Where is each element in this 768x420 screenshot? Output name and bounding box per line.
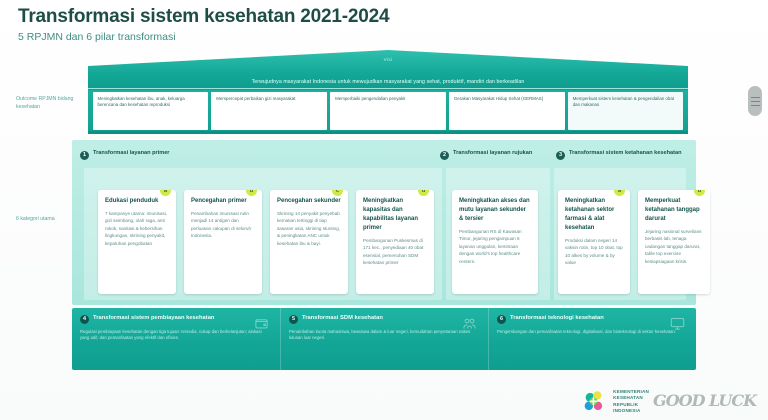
header: Transformasi sistem kesehatan 2021-2024 … (18, 6, 389, 43)
card-badge: a (160, 190, 171, 196)
card-3a[interactable]: a Meningkatkan ketahanan sektor farmasi … (558, 190, 630, 294)
card-title: Meningkatkan ketahanan sektor farmasi & … (565, 197, 624, 233)
foundation-body: Pengembangan dan pemanfaatan teknologi, … (497, 329, 688, 336)
card-title: Pencegahan primer (191, 197, 256, 206)
card-body: Pembangunan Puskesmas di 171 kec., penye… (363, 237, 428, 267)
section-header-2[interactable]: 2 Transformasi layanan rujukan (440, 150, 536, 160)
foundation-label: Transformasi sistem pembiayaan kesehatan (93, 314, 214, 322)
card-body: Jejaring nasional surveilans berbasis la… (645, 228, 704, 265)
rail-label-outcome: Outcome RPJMN bidang kesehatan (16, 96, 82, 112)
grip-line (751, 105, 760, 106)
outcome-text: Meningkatkan kesehatan ibu, anak, keluar… (98, 96, 204, 109)
ministry-line-4: INDONESIA (613, 408, 649, 414)
foundation-item-6[interactable]: 6 Transformasi teknologi kesehatan Penge… (488, 308, 696, 370)
kemenkes-logo-icon (583, 390, 609, 414)
section-header-3[interactable]: 3 Transformasi sistem ketahanan kesehata… (556, 150, 686, 160)
foundation-label: Transformasi teknologi kesehatan (510, 314, 604, 322)
card-title: Meningkatkan akses dan mutu layanan seku… (459, 197, 532, 224)
grip-line (751, 101, 760, 102)
foundation-label: Transformasi SDM kesehatan (302, 314, 383, 322)
vision-statement: Terwujudnya masyarakat Indonesia untuk m… (98, 79, 678, 85)
card-body: Penambahan imunisasi rutin menjadi 14 an… (191, 210, 256, 240)
section-header-1[interactable]: 1 Transformasi layanan primer (80, 150, 280, 160)
card-title: Memperkuat ketahanan tanggap darurat (645, 197, 704, 224)
foundation-header: 5 Transformasi SDM kesehatan (289, 314, 480, 324)
card-title: Edukasi penduduk (105, 197, 170, 206)
foundation-header: 4 Transformasi sistem pembiayaan kesehat… (80, 314, 272, 324)
grip-line (751, 97, 760, 98)
card-badge: b (246, 190, 257, 196)
ministry-name: KEMENTERIAN KESEHATAN REPUBLIK INDONESIA (613, 389, 649, 414)
monitor-icon (669, 316, 686, 331)
page-subtitle: 5 RPJMN dan 6 pilar transformasi (18, 31, 389, 43)
foundation-number: 4 (80, 315, 89, 324)
section-label: Transformasi layanan primer (93, 150, 169, 158)
foundation-band: 4 Transformasi sistem pembiayaan kesehat… (72, 308, 696, 370)
outcome-box-1[interactable]: Meningkatkan kesehatan ibu, anak, keluar… (93, 92, 209, 130)
section-label: Transformasi sistem ketahanan kesehatan (569, 150, 682, 158)
card-body: Skrining 14 penyakit penyebab kematian t… (277, 210, 342, 247)
section-number: 2 (440, 151, 449, 160)
card-body: Pembangunan RS di Kawasan Timur, jejarin… (459, 228, 532, 265)
card-1b[interactable]: b Pencegahan primer Penambahan imunisasi… (184, 190, 262, 294)
outcome-text: Mempercepat perbaikan gizi masyarakat (216, 96, 322, 102)
wallet-icon (253, 316, 270, 331)
section-label: Transformasi layanan rujukan (453, 150, 532, 158)
footer-logo: KEMENTERIAN KESEHATAN REPUBLIK INDONESIA… (583, 389, 756, 414)
people-icon (461, 316, 478, 331)
outcome-box-4[interactable]: Gerakan Masyarakat Hidup Sehat (GERMAS) (449, 92, 565, 130)
foundation-body: Regulasi pembiayaan kesehatan dengan tig… (80, 329, 272, 343)
foundation-number: 5 (289, 315, 298, 324)
section-number: 3 (556, 151, 565, 160)
foundation-header: 6 Transformasi teknologi kesehatan (497, 314, 688, 324)
outcome-band: Meningkatkan kesehatan ibu, anak, keluar… (88, 90, 688, 134)
foundation-item-4[interactable]: 4 Transformasi sistem pembiayaan kesehat… (72, 308, 280, 370)
card-1d[interactable]: d Meningkatkan kapasitas dan kapabilitas… (356, 190, 434, 294)
foundation-body: Penambahan kuota mahasiswa, beasiswa dal… (289, 329, 480, 343)
card-1c[interactable]: c Pencegahan sekunder Skrining 14 penyak… (270, 190, 348, 294)
outcome-box-3[interactable]: Memperbaiki pengendalian penyakit (330, 92, 446, 130)
slide-canvas: Transformasi sistem kesehatan 2021-2024 … (0, 0, 768, 420)
card-1a[interactable]: a Edukasi penduduk 7 kampanye utama: imu… (98, 190, 176, 294)
card-2a[interactable]: Meningkatkan akses dan mutu layanan seku… (452, 190, 538, 294)
card-body: Produksi dalam negeri 14 vaksin rutin, t… (565, 237, 624, 267)
card-badge: c (332, 190, 343, 196)
goodluck-watermark: GOOD LUCK (653, 395, 756, 408)
page-title: Transformasi sistem kesehatan 2021-2024 (18, 6, 389, 28)
outcome-text: Memperbaiki pengendalian penyakit (335, 96, 441, 102)
roof-divider (88, 88, 688, 90)
outcome-text: Memperkuat sistem kesehatan & pengendali… (573, 96, 679, 109)
outcome-box-5[interactable]: Memperkuat sistem kesehatan & pengendali… (568, 92, 684, 130)
card-badge: d (418, 190, 429, 196)
drag-handle[interactable] (748, 86, 762, 116)
vision-label: Visi (88, 57, 688, 62)
card-badge: b (694, 190, 705, 196)
section-number: 1 (80, 151, 89, 160)
card-title: Pencegahan sekunder (277, 197, 342, 206)
vision-banner: Visi Terwujudnya masyarakat Indonesia un… (88, 50, 688, 92)
foundation-item-5[interactable]: 5 Transformasi SDM kesehatan Penambahan … (280, 308, 488, 370)
card-3b[interactable]: b Memperkuat ketahanan tanggap darurat J… (638, 190, 710, 294)
foundation-number: 6 (497, 315, 506, 324)
card-badge: a (614, 190, 625, 196)
outcome-text: Gerakan Masyarakat Hidup Sehat (GERMAS) (454, 96, 560, 102)
outcome-box-2[interactable]: Mempercepat perbaikan gizi masyarakat (211, 92, 327, 130)
card-body: 7 kampanye utama: imunisasi, gizi seimba… (105, 210, 170, 247)
card-title: Meningkatkan kapasitas dan kapabilitas l… (363, 197, 428, 233)
